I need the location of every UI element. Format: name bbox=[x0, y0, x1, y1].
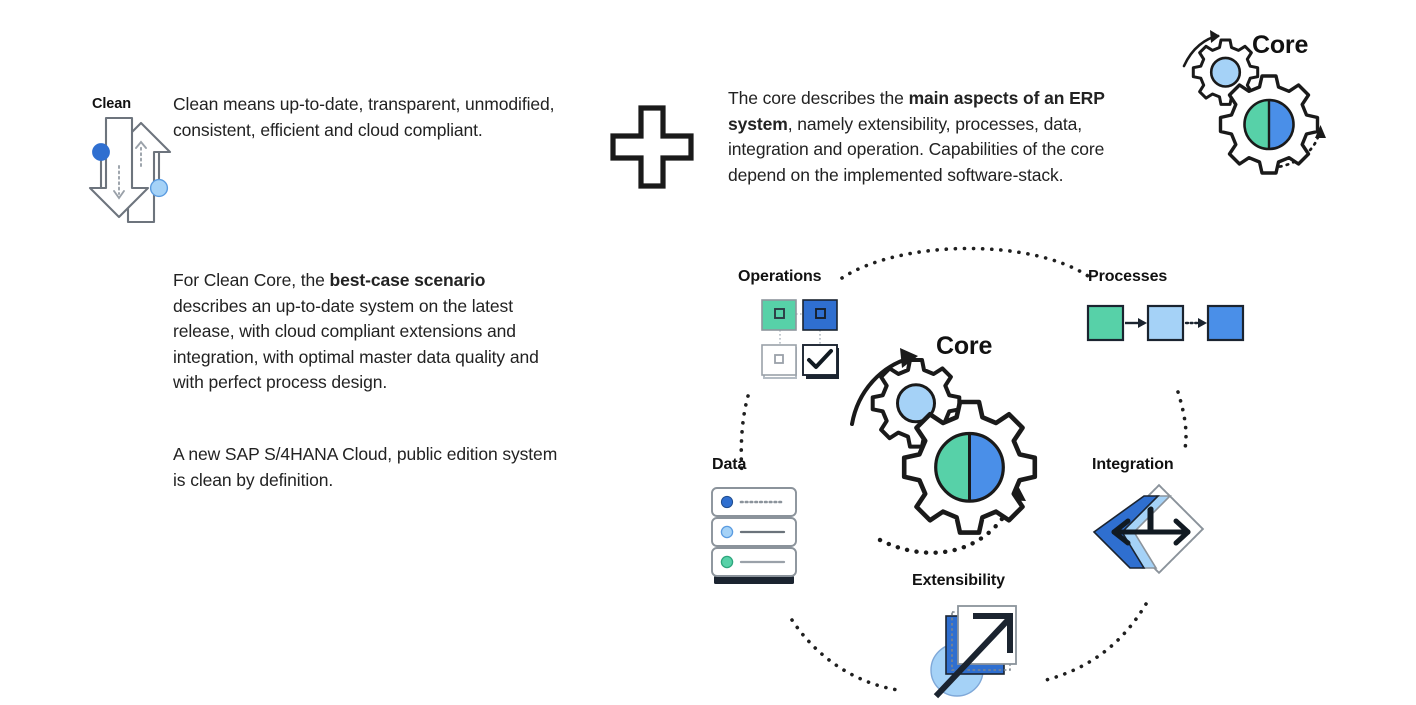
core-wheel-diagram: Operations Processes bbox=[700, 232, 1260, 692]
node-processes-label: Processes bbox=[1088, 268, 1167, 286]
text-run: The core describes the bbox=[728, 88, 909, 108]
node-extensibility[interactable]: Extensibility bbox=[912, 572, 1082, 702]
node-integration-label: Integration bbox=[1092, 456, 1174, 474]
paragraph-clean-definition: Clean means up-to-date, transparent, unm… bbox=[173, 92, 563, 143]
clean-icon-group: Clean bbox=[86, 96, 182, 226]
node-integration[interactable]: Integration bbox=[1092, 456, 1252, 606]
integration-diamond-icon bbox=[1088, 484, 1216, 592]
process-chain-icon bbox=[1086, 300, 1246, 350]
operations-tile-blue bbox=[803, 300, 837, 330]
plus-operator-icon bbox=[609, 104, 695, 190]
text-run: Clean means up-to-date, transparent, unm… bbox=[173, 94, 554, 140]
core-gears-group-top: Core bbox=[1168, 20, 1328, 180]
core-gears-icon-top bbox=[1168, 20, 1328, 180]
text-run: describes an up-to-date system on the la… bbox=[173, 296, 539, 393]
process-step-blue bbox=[1208, 306, 1243, 340]
orbit-segment-processes-integration bbox=[1178, 392, 1186, 454]
text-run: For Clean Core, the bbox=[173, 270, 330, 290]
process-step-green bbox=[1088, 306, 1123, 340]
core-large-gear bbox=[904, 402, 1035, 533]
paragraph-best-case-scenario: For Clean Core, the best-case scenario d… bbox=[173, 268, 553, 396]
node-processes[interactable]: Processes bbox=[1088, 268, 1258, 378]
clean-updown-arrows-icon bbox=[86, 114, 182, 226]
node-data-label: Data bbox=[712, 456, 746, 474]
clean-icon-label: Clean bbox=[92, 96, 131, 112]
operations-tile-green bbox=[762, 300, 796, 330]
orbit-segment-data-extensibility bbox=[792, 620, 898, 690]
node-data[interactable]: Data bbox=[712, 456, 852, 606]
core-gears-group-center: Core bbox=[848, 328, 1088, 578]
paragraph-core-definition: The core describes the main aspects of a… bbox=[728, 86, 1153, 188]
data-server-icon bbox=[710, 484, 814, 589]
operations-grid-icon bbox=[758, 298, 850, 386]
paragraph-new-system-clean: A new SAP S/4HANA Cloud, public edition … bbox=[173, 442, 563, 493]
clean-dot-light bbox=[151, 180, 168, 197]
text-run: A new SAP S/4HANA Cloud, public edition … bbox=[173, 444, 557, 490]
clean-dot-dark bbox=[93, 144, 110, 161]
node-operations-label: Operations bbox=[738, 268, 821, 286]
core-gears-icon-center bbox=[848, 328, 1088, 578]
large-gear bbox=[1221, 76, 1318, 173]
process-step-lightblue bbox=[1148, 306, 1183, 340]
orbit-segment-operations-processes bbox=[842, 248, 1088, 278]
text-run-bold: best-case scenario bbox=[330, 270, 486, 290]
extensibility-arrow-icon bbox=[928, 600, 1038, 705]
operations-tile-empty bbox=[762, 345, 796, 375]
